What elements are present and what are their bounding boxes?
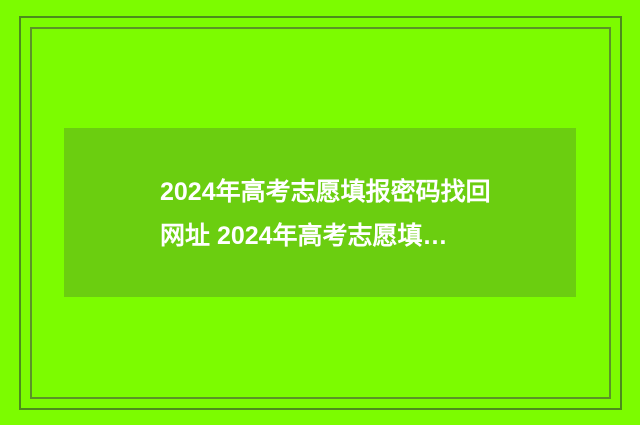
headline-panel: 2024年高考志愿填报密码找回 网址 2024年高考志愿填… [64, 128, 576, 297]
headline-title: 2024年高考志愿填报密码找回 网址 2024年高考志愿填… [160, 170, 500, 258]
poster-canvas: 2024年高考志愿填报密码找回 网址 2024年高考志愿填… [0, 0, 640, 425]
